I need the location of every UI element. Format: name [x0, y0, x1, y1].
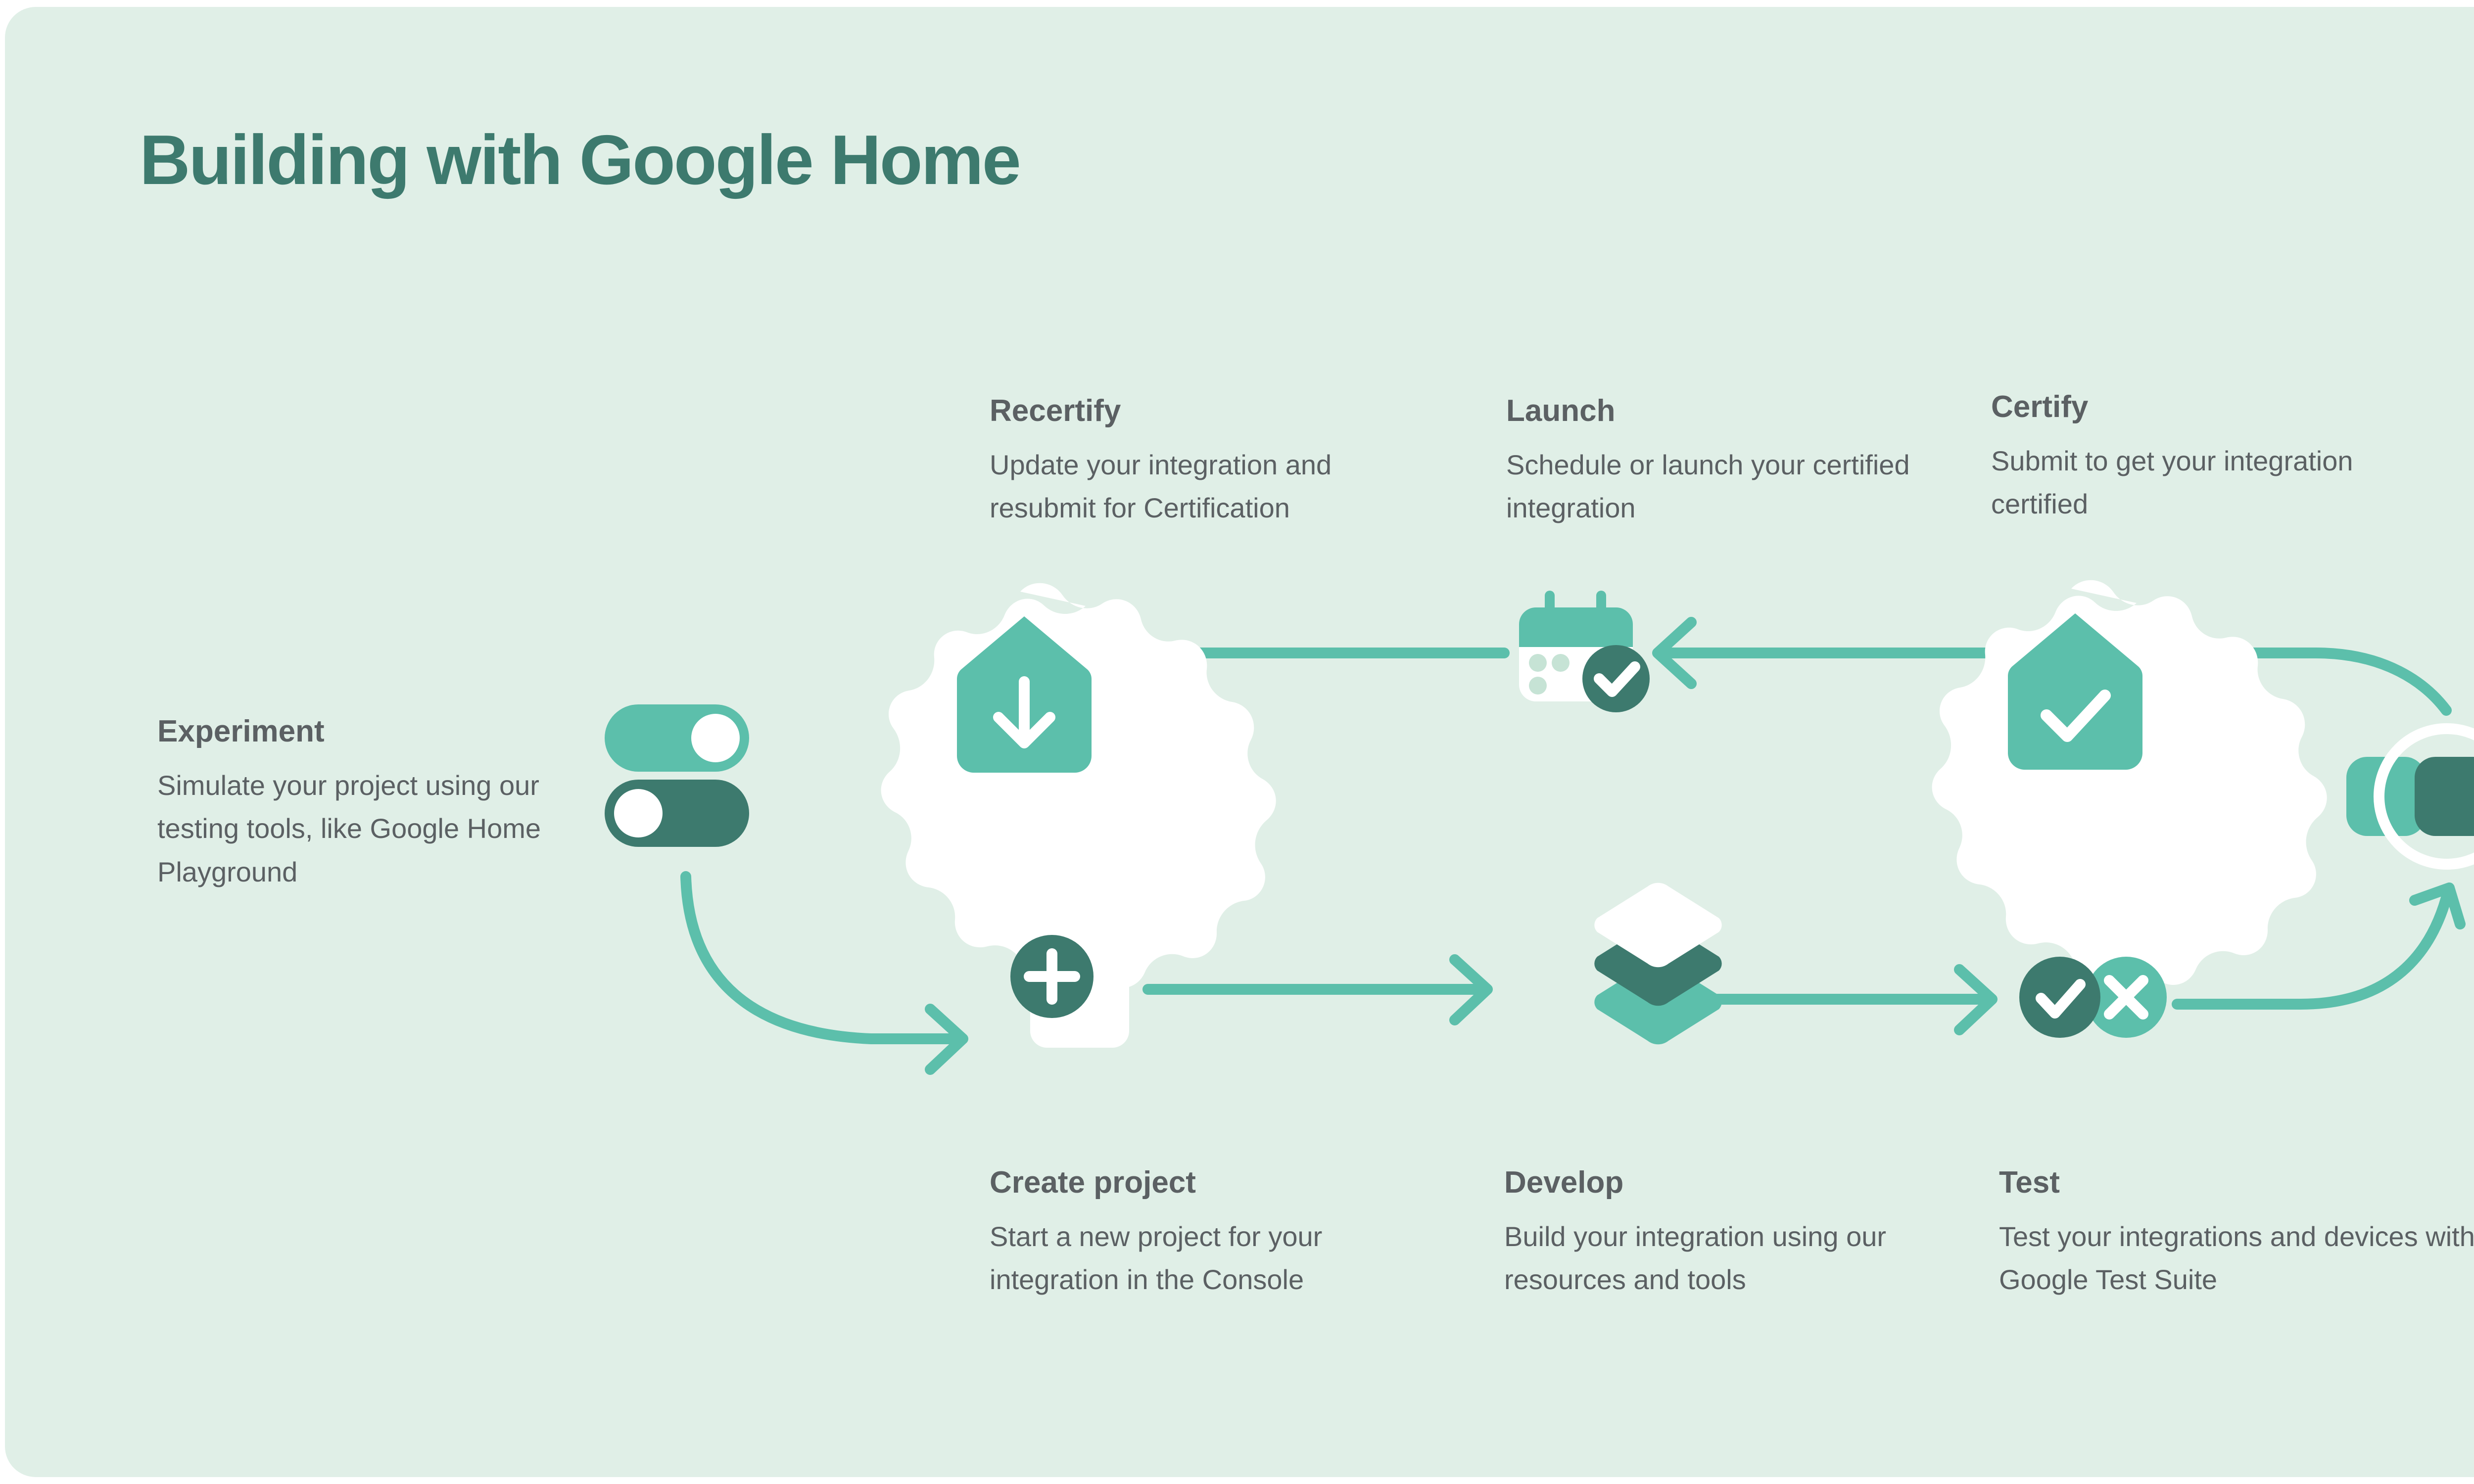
calendar-dot-3: [1529, 677, 1547, 695]
toggle-switches-icon[interactable]: [605, 704, 749, 847]
calendar-header: [1519, 607, 1633, 647]
node-certify-title: Certify: [1991, 392, 2367, 422]
calendar-dot-2: [1552, 654, 1570, 672]
node-experiment: Experiment Simulate your project using o…: [157, 716, 593, 893]
node-launch: Launch Schedule or launch your certified…: [1506, 396, 1912, 530]
node-develop-title: Develop: [1504, 1167, 1940, 1198]
badge-download-icon[interactable]: [881, 583, 1276, 988]
badge-check-icon[interactable]: [1932, 580, 2327, 985]
calendar-check-icon[interactable]: [1519, 591, 1650, 712]
toggle-on-knob: [691, 714, 740, 762]
device-dark-square: [2415, 757, 2474, 836]
node-launch-title: Launch: [1506, 396, 1912, 426]
layers-icon[interactable]: [1594, 883, 1721, 1045]
node-develop: Develop Build your integration using our…: [1504, 1167, 1940, 1301]
check-circle-bg: [1582, 645, 1650, 712]
node-create-project-desc: Start a new project for your integration…: [990, 1215, 1425, 1301]
node-test: Test Test your integrations and devices …: [1999, 1167, 2474, 1301]
node-recertify-desc: Update your integration and resubmit for…: [990, 443, 1425, 530]
node-recertify-title: Recertify: [990, 396, 1425, 426]
node-create-project-title: Create project: [990, 1167, 1425, 1198]
node-test-title: Test: [1999, 1167, 2474, 1198]
node-launch-desc: Schedule or launch your certified integr…: [1506, 443, 1912, 530]
node-test-desc: Test your integrations and devices with …: [1999, 1215, 2474, 1301]
check-circle-bg: [2019, 957, 2100, 1038]
add-project-icon[interactable]: [1010, 935, 1129, 1048]
diagram-canvas: Building with Google Home: [0, 0, 2474, 1484]
node-certify-desc: Submit to get your integration certified: [1991, 439, 2367, 526]
devices-circle-icon[interactable]: [2346, 729, 2474, 864]
toggle-off-knob: [614, 789, 663, 837]
badge-scallop: [1932, 580, 2327, 985]
node-certify: Certify Submit to get your integration c…: [1991, 392, 2367, 526]
node-recertify: Recertify Update your integration and re…: [990, 396, 1425, 530]
node-develop-desc: Build your integration using our resourc…: [1504, 1215, 1940, 1301]
badge-scallop: [881, 583, 1276, 988]
node-experiment-desc: Simulate your project using our testing …: [157, 764, 593, 893]
node-experiment-title: Experiment: [157, 716, 593, 747]
node-create-project: Create project Start a new project for y…: [990, 1167, 1425, 1301]
calendar-dot-1: [1529, 654, 1547, 672]
